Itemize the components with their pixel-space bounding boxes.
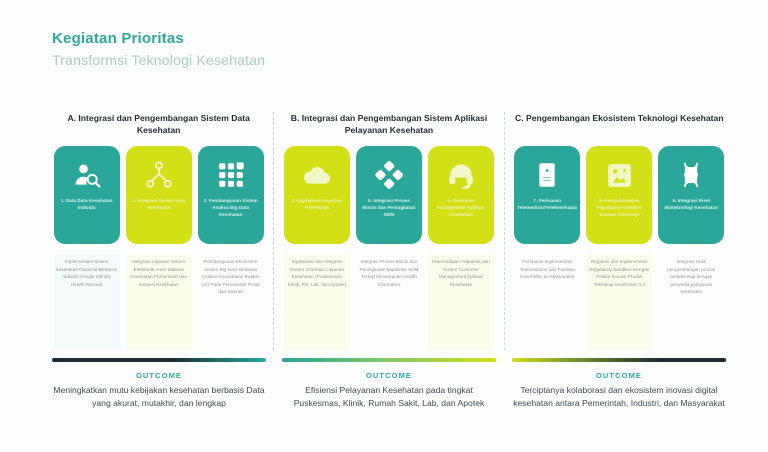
column-b-cards: 4. Digitalisasi Layanan Kesehatan 5. Int… [274,146,503,244]
data-grid-icon [214,158,248,192]
outcome-text-b: Efisiensi Pelayanan Kesehatan pada tingk… [282,384,496,411]
card-5-label: 5. Integrasi Proses Bisnis dan Peningkat… [356,198,422,219]
outcome-label-a: OUTCOME [52,371,266,380]
columns-container: A. Integrasi dan Pengembangan Sistem Dat… [44,112,734,350]
card-9-description: Integrasi Hasil pengembangan produk biot… [658,254,724,350]
card-4-label: 4. Digitalisasi Layanan Kesehatan [284,198,350,212]
card-6-label: 6. Customer Management Aplikasi Kesehata… [428,198,494,219]
card-5-description: Integrasi Proses Bisnis dan Peningkatan … [356,254,422,350]
column-a-cards: 1. Data Data Kesehatan Individu 2. Integ… [44,146,273,244]
outcome-bar-c [512,358,726,362]
outcome-text-a: Meningkatkan mutu kebijakan kesehatan be… [52,384,266,411]
card-4[interactable]: 4. Digitalisasi Layanan Kesehatan [284,146,350,244]
card-8-description: Regulasi dan Implementasi Regulatory San… [586,254,652,350]
card-2[interactable]: 2. Integrasi Sistem Data Kesehatan [126,146,192,244]
outcome-column-a: OUTCOME Meningkatkan mutu kebijakan kese… [44,358,274,411]
column-c-cards: 7. Perluasan Telemedisin/Telekesehatan 8… [505,146,734,244]
card-3[interactable]: 3. Pembangunan Sistem Analisa Big Data K… [198,146,264,244]
card-2-label: 2. Integrasi Sistem Data Kesehatan [126,198,192,212]
cloud-icon [300,158,334,192]
card-7-description: Perluasan implementasi Telemedisine dan … [514,254,580,350]
outcome-text-c: Terciptanya kolaborasi dan ekosistem ino… [512,384,726,411]
column-c-heading: C. Pengembangan Ekosistem Teknologi Kese… [505,112,734,146]
card-8[interactable]: 8. Pengembangan Regulatory Sandbox Inova… [586,146,652,244]
card-9-label: 9. Integrasi Riset Bioteknologi Kesehata… [658,198,724,212]
card-1-description: Implementasi Sistem kesehatan Nasional B… [54,254,120,350]
outcome-column-c: OUTCOME Terciptanya kolaborasi dan ekosi… [504,358,734,411]
outcomes-container: OUTCOME Meningkatkan mutu kebijakan kese… [44,358,734,411]
innovation-map-icon [602,158,636,192]
card-9[interactable]: 9. Integrasi Riset Bioteknologi Kesehata… [658,146,724,244]
column-c: C. Pengembangan Ekosistem Teknologi Kese… [504,112,734,350]
outcome-column-b: OUTCOME Efisiensi Pelayanan Kesehatan pa… [274,358,504,411]
card-3-label: 3. Pembangunan Sistem Analisa Big Data K… [198,198,264,219]
column-c-descriptions: Perluasan implementasi Telemedisine dan … [505,244,734,350]
card-6-description: Ketersediaan Helpdesk dan Sistem Custome… [428,254,494,350]
card-1[interactable]: 1. Data Data Kesehatan Individu [54,146,120,244]
card-1-label: 1. Data Data Kesehatan Individu [54,198,120,212]
card-3-description: Pembangunan Ekosistem Sistem Big Data Be… [198,254,264,350]
prescription-document-icon [530,158,564,192]
header: Kegiatan Prioritas Transformsi Teknologi… [52,30,265,69]
column-a: A. Integrasi dan Pengembangan Sistem Dat… [44,112,273,350]
outcome-bar-b [282,358,496,362]
card-7[interactable]: 7. Perluasan Telemedisin/Telekesehatan [514,146,580,244]
column-b-heading: B. Integrasi dan Pengembangan Sistem Apl… [274,112,503,146]
integration-diamond-icon [372,158,406,192]
column-a-heading: A. Integrasi dan Pengembangan Sistem Dat… [44,112,273,146]
outcome-bar-a [52,358,266,362]
column-a-descriptions: Implementasi Sistem kesehatan Nasional B… [44,244,273,350]
card-8-label: 8. Pengembangan Regulatory Sandbox Inova… [586,198,652,219]
outcome-label-c: OUTCOME [512,371,726,380]
slide-canvas: Kegiatan Prioritas Transformsi Teknologi… [0,0,768,452]
headset-support-icon [444,158,478,192]
card-5[interactable]: 5. Integrasi Proses Bisnis dan Peningkat… [356,146,422,244]
outcome-label-b: OUTCOME [282,371,496,380]
card-2-description: Integrasi Layanan Sistem Elektronik Anta… [126,254,192,350]
card-7-label: 7. Perluasan Telemedisin/Telekesehatan [512,198,582,212]
column-b-descriptions: Digitalisasi dan Integrasi Sistem Inform… [274,244,503,350]
column-b: B. Integrasi dan Pengembangan Sistem Apl… [273,112,503,350]
page-subtitle: Transformsi Teknologi Kesehatan [52,51,265,69]
user-search-icon [70,158,104,192]
dna-biotech-icon [674,158,708,192]
card-4-description: Digitalisasi dan Integrasi Sistem Inform… [284,254,350,350]
network-share-icon [142,158,176,192]
page-title: Kegiatan Prioritas [52,30,265,49]
card-6[interactable]: 6. Customer Management Aplikasi Kesehata… [428,146,494,244]
